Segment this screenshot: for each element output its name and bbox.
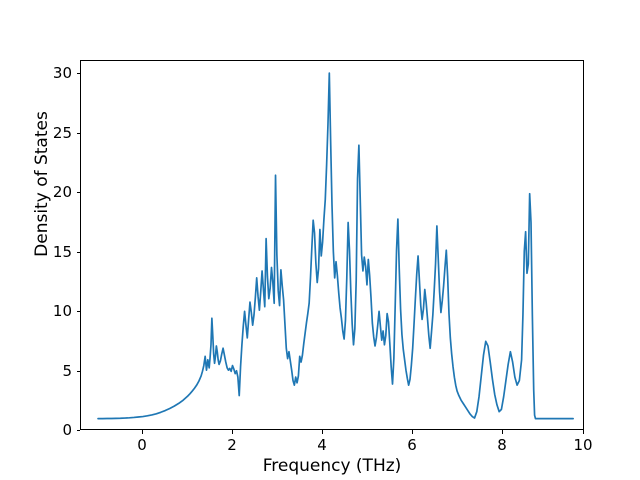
yticklabel-0: 0 [28, 421, 72, 439]
xtick-8 [502, 430, 503, 434]
xtick-0 [142, 430, 143, 434]
xticklabel-2: 2 [212, 436, 252, 454]
ytick-15 [77, 252, 81, 253]
ytick-5 [77, 371, 81, 372]
xticklabel-6: 6 [392, 436, 432, 454]
ytick-25 [77, 133, 81, 134]
ytick-10 [77, 311, 81, 312]
yticklabel-5: 5 [28, 362, 72, 380]
dos-curve-svg [81, 61, 583, 429]
xtick-10 [583, 430, 584, 434]
xtick-2 [232, 430, 233, 434]
xticklabel-10: 10 [563, 436, 603, 454]
xticklabel-4: 4 [302, 436, 342, 454]
xtick-6 [412, 430, 413, 434]
x-axis-label: Frequency (THz) [80, 456, 584, 476]
xticklabel-0: 0 [122, 436, 162, 454]
xticklabel-8: 8 [482, 436, 522, 454]
ytick-20 [77, 192, 81, 193]
dos-line-series [98, 73, 573, 419]
plot-axes-area [80, 60, 584, 430]
ytick-30 [77, 73, 81, 74]
figure-canvas: 0 2 4 6 8 10 0 5 10 15 20 25 30 Frequenc… [0, 0, 640, 480]
yticklabel-10: 10 [28, 302, 72, 320]
xtick-4 [322, 430, 323, 434]
ytick-0 [77, 430, 81, 431]
y-axis-label: Density of States [32, 69, 52, 299]
